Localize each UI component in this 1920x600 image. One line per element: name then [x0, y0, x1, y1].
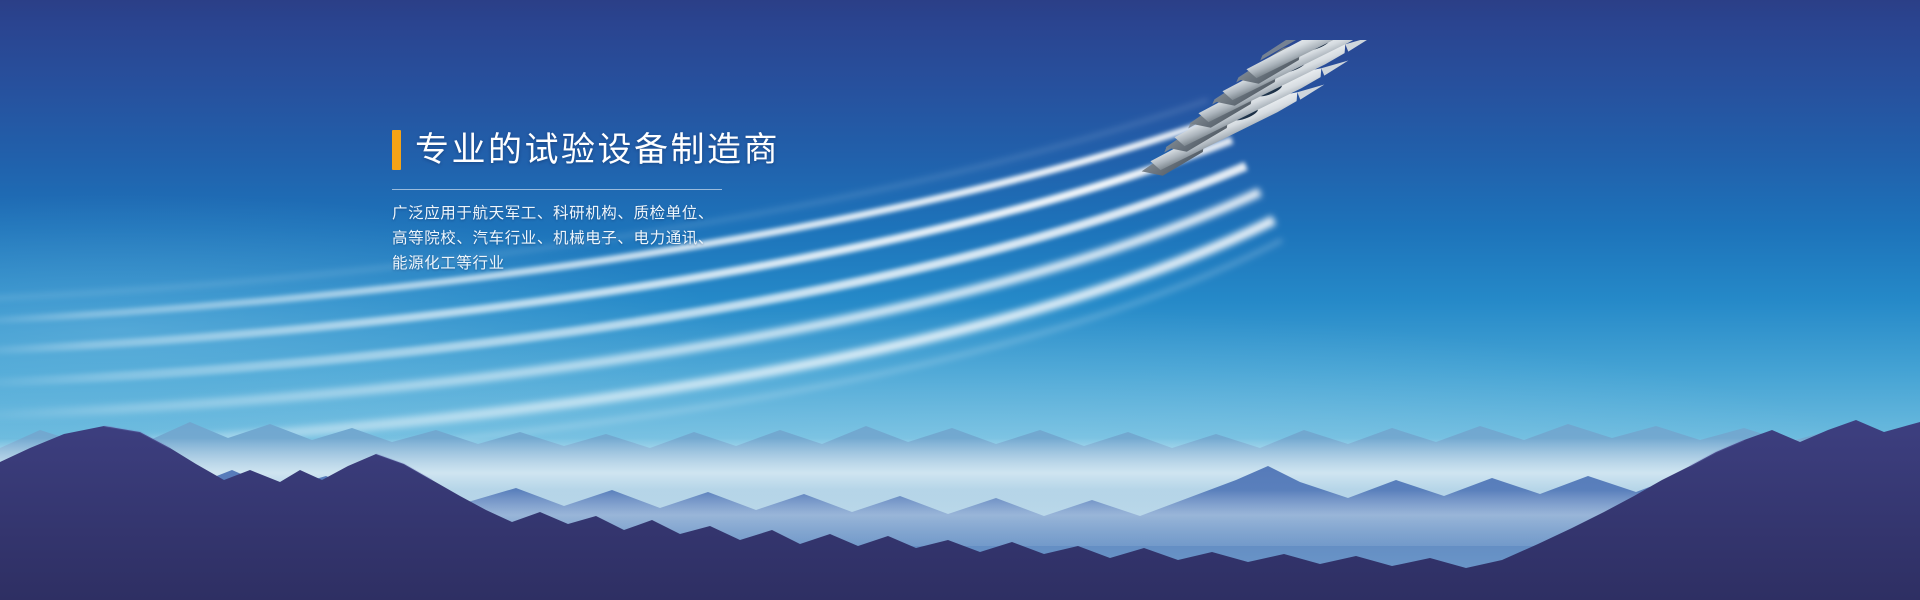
- page-title: 专业的试验设备制造商: [415, 130, 780, 170]
- subtitle-line-2: 高等院校、汽车行业、机械电子、电力通讯、: [392, 226, 812, 251]
- hero-banner: 专业的试验设备制造商 广泛应用于航天军工、科研机构、质检单位、 高等院校、汽车行…: [0, 0, 1920, 600]
- subtitle-block: 广泛应用于航天军工、科研机构、质检单位、 高等院校、汽车行业、机械电子、电力通讯…: [392, 201, 812, 276]
- subtitle-line-1: 广泛应用于航天军工、科研机构、质检单位、: [392, 201, 812, 226]
- mountain-range: [0, 330, 1920, 600]
- headline-row: 专业的试验设备制造商: [392, 124, 812, 176]
- divider: [392, 189, 722, 190]
- jet-formation: [1120, 40, 1520, 270]
- jet-aircraft: [1134, 40, 1429, 182]
- subtitle-line-3: 能源化工等行业: [392, 251, 812, 276]
- accent-bar-icon: [392, 130, 401, 170]
- banner-copy: 专业的试验设备制造商 广泛应用于航天军工、科研机构、质检单位、 高等院校、汽车行…: [392, 124, 812, 276]
